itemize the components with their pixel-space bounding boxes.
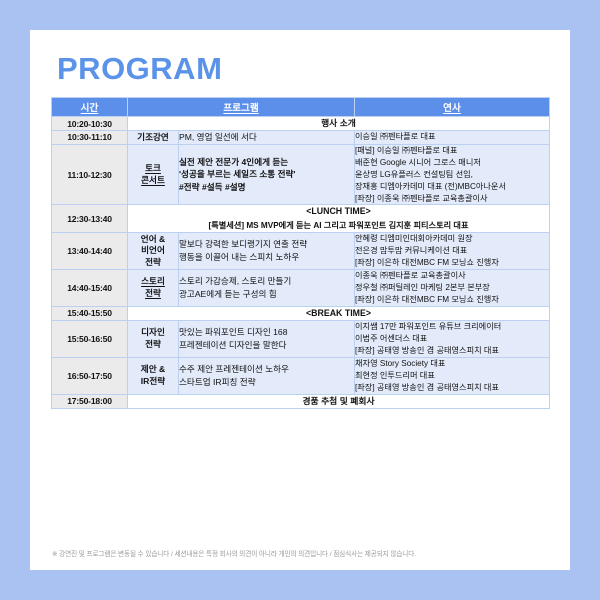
category-line: 비언어 xyxy=(128,245,178,257)
cell-category: 디자인전략 xyxy=(128,320,179,357)
table-row: 11:10-12:30토크콘서트실전 제안 전문가 4인에게 듣는'성공을 부르… xyxy=(52,144,550,205)
cell-time: 15:40-15:50 xyxy=(52,306,128,320)
text-line: [좌장] 이은하 대전MBC FM 모닝쇼 진행자 xyxy=(355,294,549,306)
category-line: 디자인 xyxy=(128,327,178,339)
category-line: 전략 xyxy=(128,257,178,269)
page-title: PROGRAM xyxy=(57,51,222,87)
text-line: [좌장] 공태영 방송인 겸 공태영스피치 대표 xyxy=(355,382,549,394)
text-line: [좌장] 이은하 대전MBC FM 모닝쇼 진행자 xyxy=(355,257,549,269)
cell-program: 스토리 가감승제, 스토리 만들기광고AE에게 듣는 구성의 힘 xyxy=(179,269,355,306)
table-row: 14:40-15:40스토리전략스토리 가감승제, 스토리 만들기광고AE에게 … xyxy=(52,269,550,306)
cell-time: 14:40-15:40 xyxy=(52,269,128,306)
cell-speakers: 채자영 Story Society 대표최현정 인투드리머 대표[좌장] 공태영… xyxy=(355,357,550,394)
text-line: 수주 제안 프레젠테이션 노하우 xyxy=(179,363,354,375)
cell-time: 15:50-16:50 xyxy=(52,320,128,357)
text-line: PM, 영업 일선에 서다 xyxy=(179,131,354,143)
table-body: 10:20-10:30행사 소개10:30-11:10기조강연PM, 영업 일선… xyxy=(52,117,550,409)
text-line: 행동을 이끌어 내는 스피치 노하우 xyxy=(179,251,354,263)
cell-category: 언어 &비언어전략 xyxy=(128,232,179,269)
program-card: PROGRAM 시간 프로그램 연사 10:20-10:30행사 소개10:30… xyxy=(30,30,570,570)
category-line: 콘서트 xyxy=(128,175,178,187)
cell-time: 16:50-17:50 xyxy=(52,357,128,394)
text-line: 채자영 Story Society 대표 xyxy=(355,358,549,370)
table-row: 12:30-13:40<LUNCH TIME>[특별세션] MS MVP에게 듣… xyxy=(52,205,550,232)
column-header-time-label: 시간 xyxy=(81,103,99,114)
cell-program: PM, 영업 일선에 서다 xyxy=(179,131,355,144)
cell-category: 제안 &IR전략 xyxy=(128,357,179,394)
announcement-title: <LUNCH TIME> xyxy=(128,205,549,218)
table-header-row: 시간 프로그램 연사 xyxy=(52,98,550,117)
table-row: 10:20-10:30행사 소개 xyxy=(52,117,550,131)
text-line: 배준현 Google 시니어 그로스 매니저 xyxy=(355,157,549,169)
cell-announcement: <BREAK TIME> xyxy=(128,306,550,320)
cell-speakers: 이지쌤 17만 파워포인트 유튜브 크리에이터이법주 어센더스 대표[좌장] 공… xyxy=(355,320,550,357)
footnote: ※ 강연진 및 프로그램은 변동될 수 있습니다 / 세션내용은 특정 회사의 … xyxy=(52,548,416,558)
text-line: 이법주 어센더스 대표 xyxy=(355,333,549,345)
table-row: 17:50-18:00경품 추첨 및 폐회사 xyxy=(52,394,550,408)
cell-program: 수주 제안 프레젠테이션 노하우스타트업 IR피칭 전략 xyxy=(179,357,355,394)
announcement-subtitle: [특별세션] MS MVP에게 듣는 AI 그리고 파워포인트 김지훈 피티스토… xyxy=(128,220,549,232)
announcement-title: 행사 소개 xyxy=(128,117,549,130)
text-line: 최현정 인투드리머 대표 xyxy=(355,370,549,382)
text-line: 장재홍 디엠아카데미 대표 (전)MBC아나운서 xyxy=(355,181,549,193)
category-line: 언어 & xyxy=(128,234,178,246)
column-header-time: 시간 xyxy=(52,98,128,117)
category-line: 기조강연 xyxy=(128,132,178,144)
announcement-title: 경품 추첨 및 폐회사 xyxy=(128,395,549,408)
cell-time: 10:20-10:30 xyxy=(52,117,128,131)
text-line: #전략 #설득 #설명 xyxy=(179,181,354,193)
text-line: [좌장] 공태영 방송인 겸 공태영스피치 대표 xyxy=(355,345,549,357)
text-line: 스토리 가감승제, 스토리 만들기 xyxy=(179,275,354,287)
text-line: '성공을 부르는 세일즈 소통 전략' xyxy=(179,168,354,180)
announcement-title: <BREAK TIME> xyxy=(128,307,549,320)
category-line: 스토리 xyxy=(128,276,178,288)
cell-category: 스토리전략 xyxy=(128,269,179,306)
cell-speakers: [패널] 이승일 ㈜펜타플로 대표배준현 Google 시니어 그로스 매니저윤… xyxy=(355,144,550,205)
cell-category: 기조강연 xyxy=(128,131,179,144)
cell-announcement: 경품 추첨 및 폐회사 xyxy=(128,394,550,408)
table-row: 10:30-11:10기조강연PM, 영업 일선에 서다이승일 ㈜펜타플로 대표 xyxy=(52,131,550,144)
text-line: 스타트업 IR피칭 전략 xyxy=(179,376,354,388)
program-schedule-table: 시간 프로그램 연사 10:20-10:30행사 소개10:30-11:10기조… xyxy=(51,97,550,409)
text-line: 광고AE에게 듣는 구성의 힘 xyxy=(179,288,354,300)
table-row: 13:40-14:40언어 &비언어전략말보다 강력한 보디랭기지 연출 전략행… xyxy=(52,232,550,269)
text-line: 안혜령 디엠미인대회아카데미 원장 xyxy=(355,233,549,245)
column-header-program: 프로그램 xyxy=(128,98,355,117)
category-line: 토크 xyxy=(128,163,178,175)
cell-announcement: 행사 소개 xyxy=(128,117,550,131)
cell-program: 실전 제안 전문가 4인에게 듣는'성공을 부르는 세일즈 소통 전략'#전략 … xyxy=(179,144,355,205)
table-row: 16:50-17:50제안 &IR전략수주 제안 프레젠테이션 노하우스타트업 … xyxy=(52,357,550,394)
category-line: IR전략 xyxy=(128,376,178,388)
cell-category: 토크콘서트 xyxy=(128,144,179,205)
text-line: 전은경 맘투맘 커뮤니케이션 대표 xyxy=(355,245,549,257)
text-line: 실전 제안 전문가 4인에게 듣는 xyxy=(179,156,354,168)
cell-time: 12:30-13:40 xyxy=(52,205,128,232)
cell-speakers: 안혜령 디엠미인대회아카데미 원장전은경 맘투맘 커뮤니케이션 대표[좌장] 이… xyxy=(355,232,550,269)
column-header-speaker: 연사 xyxy=(355,98,550,117)
table-row: 15:50-16:50디자인전략맛있는 파워포인트 디자인 168프레젠테이션 … xyxy=(52,320,550,357)
text-line: [좌장] 이종욱 ㈜펜타플로 교육총괄이사 xyxy=(355,193,549,205)
category-line: 제안 & xyxy=(128,364,178,376)
category-line: 전략 xyxy=(128,288,178,300)
text-line: 정우철 ㈜퍼틸레인 마케팅 2본부 본부장 xyxy=(355,282,549,294)
text-line: 이종욱 ㈜펜타플로 교육총괄이사 xyxy=(355,270,549,282)
cell-program: 말보다 강력한 보디랭기지 연출 전략행동을 이끌어 내는 스피치 노하우 xyxy=(179,232,355,269)
text-line: 이지쌤 17만 파워포인트 유튜브 크리에이터 xyxy=(355,321,549,333)
text-line: 맛있는 파워포인트 디자인 168 xyxy=(179,326,354,338)
table-row: 15:40-15:50<BREAK TIME> xyxy=(52,306,550,320)
cell-program: 맛있는 파워포인트 디자인 168프레젠테이션 디자인을 말한다 xyxy=(179,320,355,357)
cell-speakers: 이승일 ㈜펜타플로 대표 xyxy=(355,131,550,144)
cell-announcement: <LUNCH TIME>[특별세션] MS MVP에게 듣는 AI 그리고 파워… xyxy=(128,205,550,232)
text-line: 프레젠테이션 디자인을 말한다 xyxy=(179,339,354,351)
cell-time: 11:10-12:30 xyxy=(52,144,128,205)
column-header-program-label: 프로그램 xyxy=(223,103,258,114)
cell-time: 17:50-18:00 xyxy=(52,394,128,408)
text-line: [패널] 이승일 ㈜펜타플로 대표 xyxy=(355,145,549,157)
category-line: 전략 xyxy=(128,339,178,351)
cell-time: 13:40-14:40 xyxy=(52,232,128,269)
cell-speakers: 이종욱 ㈜펜타플로 교육총괄이사정우철 ㈜퍼틸레인 마케팅 2본부 본부장[좌장… xyxy=(355,269,550,306)
text-line: 이승일 ㈜펜타플로 대표 xyxy=(355,131,549,143)
table-header: 시간 프로그램 연사 xyxy=(52,98,550,117)
cell-time: 10:30-11:10 xyxy=(52,131,128,144)
column-header-speaker-label: 연사 xyxy=(443,103,461,114)
text-line: 말보다 강력한 보디랭기지 연출 전략 xyxy=(179,238,354,250)
text-line: 윤상명 LG유플러스 컨설팅팀 선임, xyxy=(355,169,549,181)
